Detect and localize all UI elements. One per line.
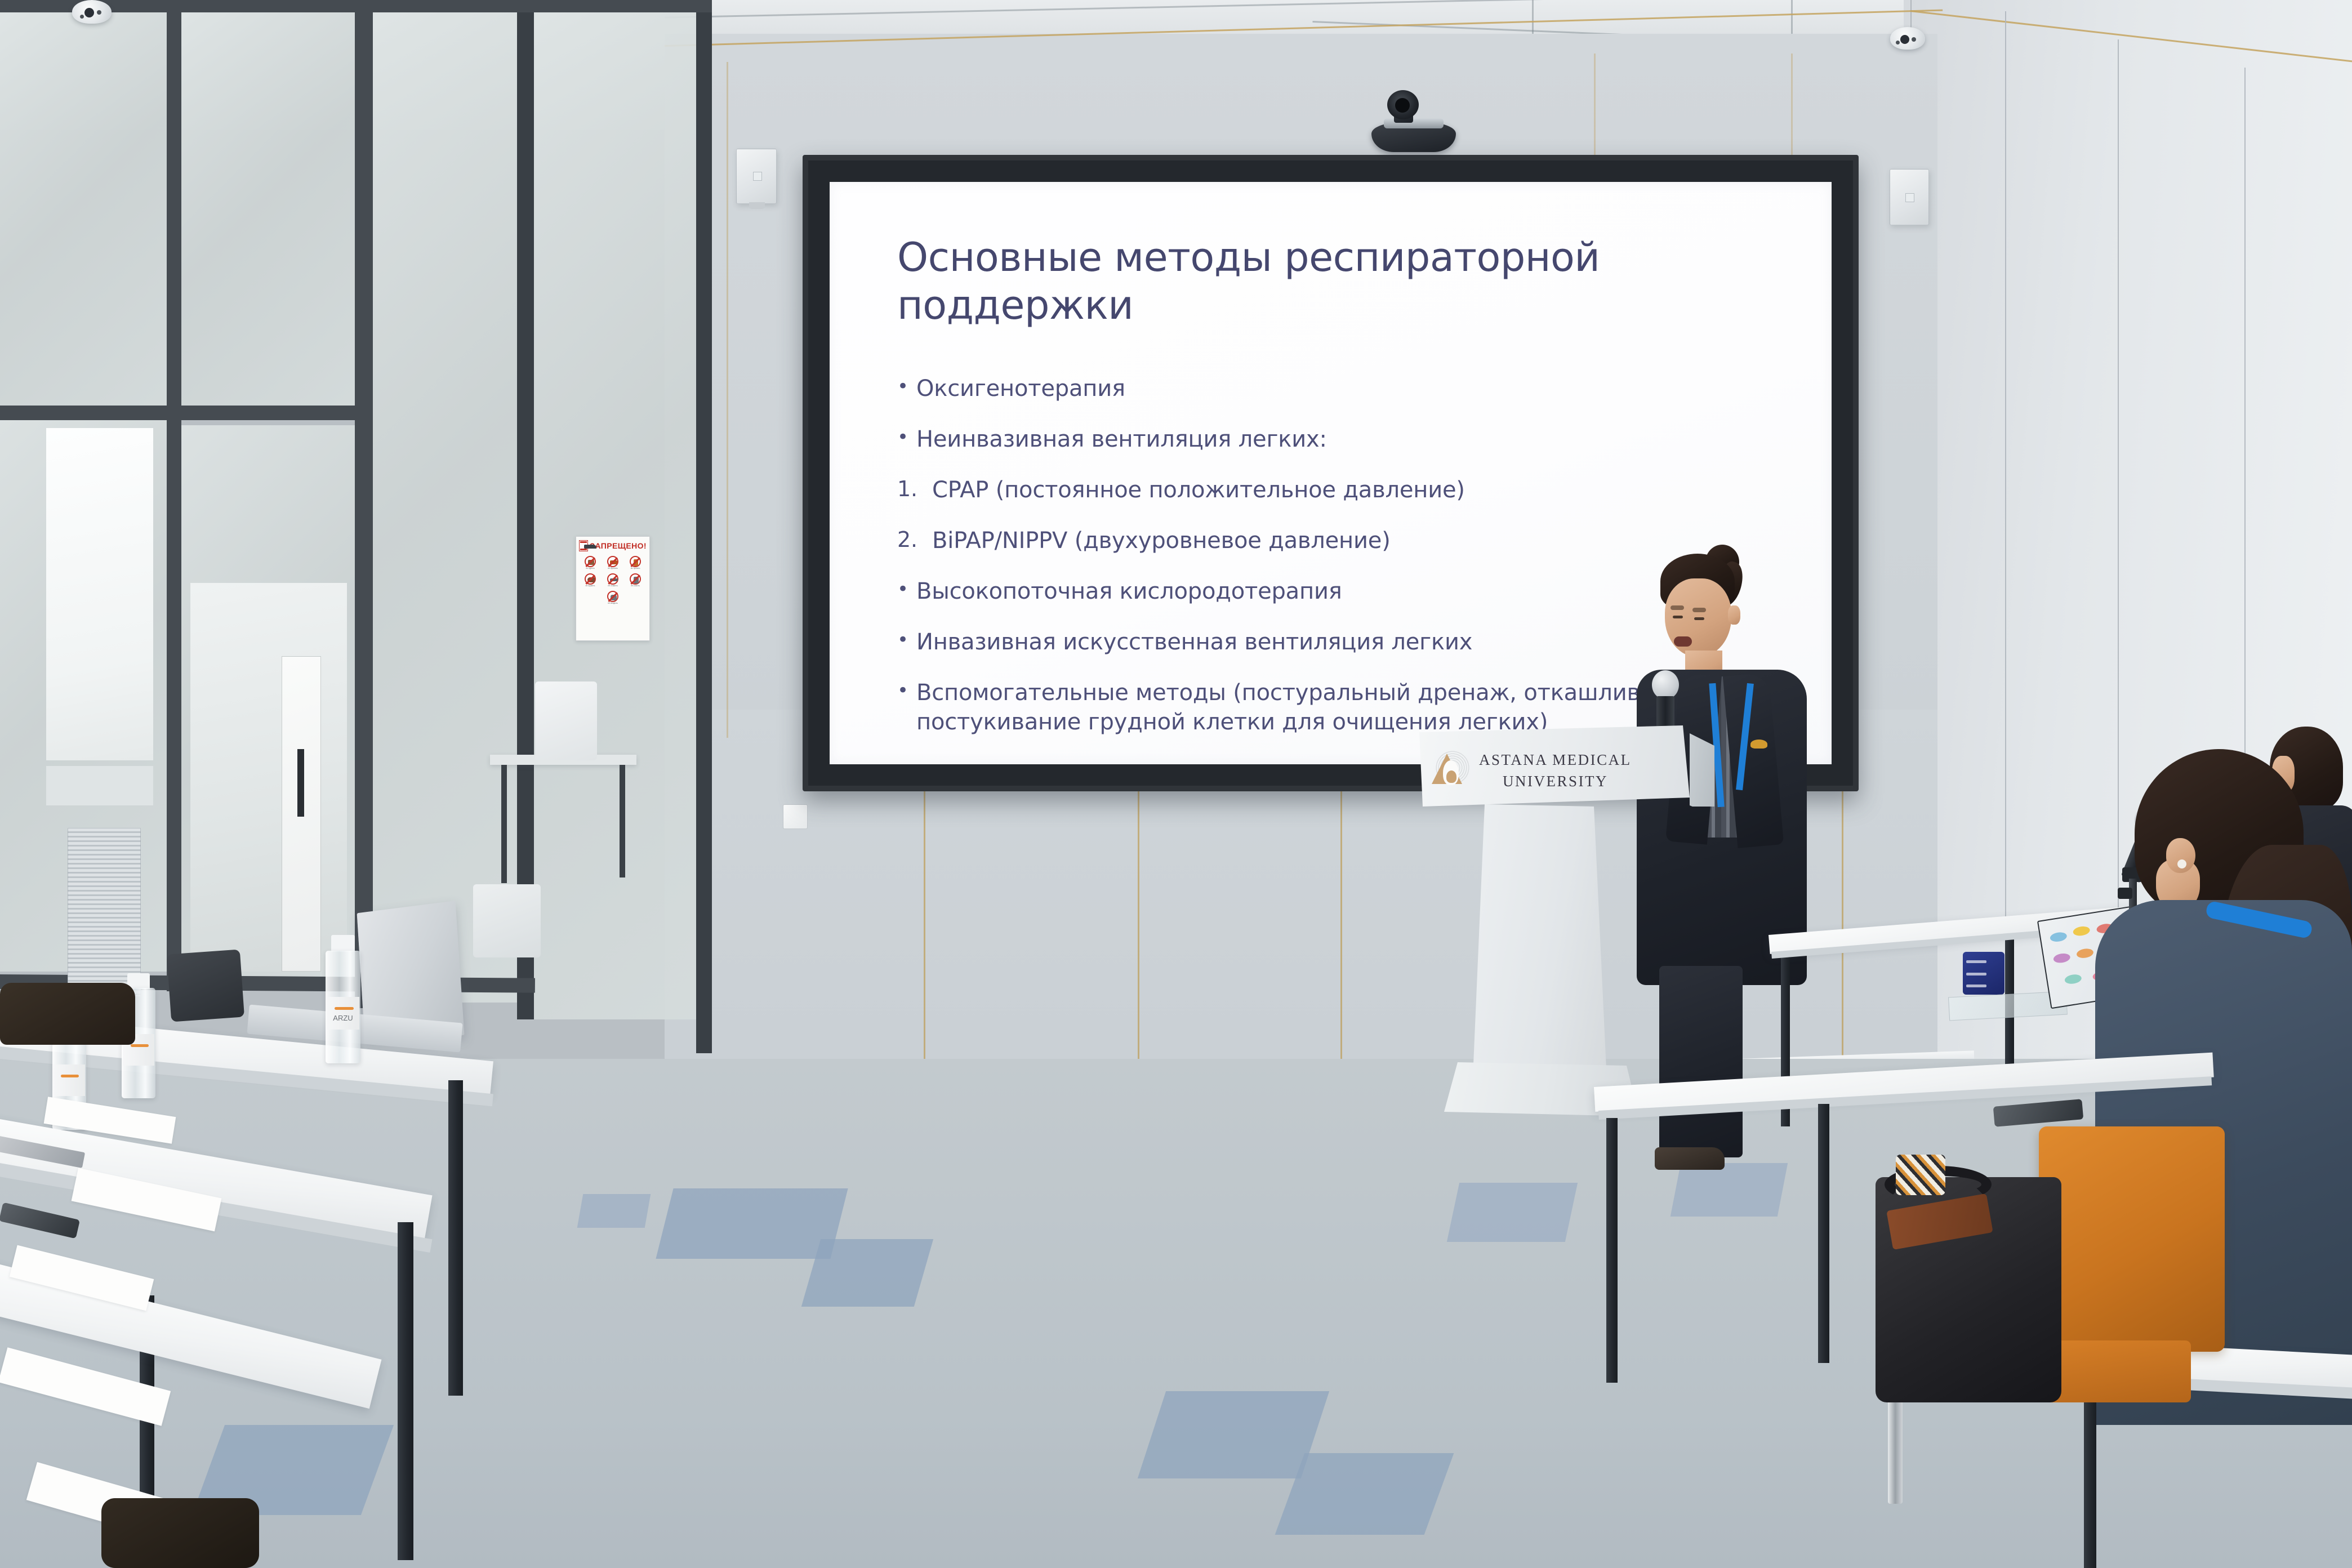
astana-medical-university-logo-icon (1429, 746, 1471, 789)
water-bottle[interactable]: ARZU (322, 935, 364, 1064)
poster-caption: не шуметь (582, 585, 599, 587)
lapel-pin (1750, 740, 1767, 749)
slide-bullet-text: CPAP (постоянное положительное давление) (932, 475, 1771, 505)
glass-pane (532, 6, 698, 1019)
slide-bullet-item: •Оксигенотерапия (897, 374, 1771, 403)
podium-column (1473, 804, 1606, 1069)
bullet-marker: • (897, 678, 916, 703)
foreground-bag (0, 983, 135, 1045)
far-table-leg (620, 765, 625, 877)
poster-caption: не ставить (604, 585, 621, 587)
door-handle[interactable] (297, 749, 304, 817)
podium-branding: ASTANA MEDICAL UNIVERSITY (1420, 732, 1683, 803)
table-leg (398, 1222, 413, 1560)
podium-side (1690, 733, 1714, 807)
bullet-marker: • (897, 425, 916, 449)
audience-chair[interactable] (2039, 1126, 2225, 1352)
poster-caption: не входить (604, 603, 621, 605)
bottle-brand-label: ARZU (330, 1014, 356, 1023)
bullet-marker: • (897, 577, 916, 602)
eye (1673, 616, 1683, 618)
slide-bullet-text: Оксигенотерапия (916, 374, 1771, 403)
earring (2177, 859, 2186, 868)
lecture-room-photo: ЗАПРЕЩЕНО! не курить не бросать не трога… (0, 0, 2352, 1568)
window-sill (46, 766, 153, 805)
ear (1728, 605, 1740, 625)
podium-line2: UNIVERSITY (1503, 773, 1608, 790)
poster-title: ЗАПРЕЩЕНО! (590, 541, 647, 550)
chair-silhouette (167, 950, 244, 1022)
poster-caption: не трогать (627, 568, 644, 570)
prohibition-poster: ЗАПРЕЩЕНО! не курить не бросать не трога… (576, 536, 650, 641)
dome-camera-icon (72, 0, 112, 24)
dome-camera-icon (1890, 27, 1925, 50)
air-vent (68, 828, 141, 997)
glass-pane (372, 11, 518, 1003)
slide-title: Основные методы респираторной поддержки (897, 234, 1624, 330)
carpet-accent-tile (1275, 1453, 1454, 1535)
table-leg (1606, 1118, 1618, 1383)
podium: ASTANA MEDICAL UNIVERSITY (1419, 725, 1718, 1193)
scarf (1896, 1155, 1945, 1195)
eyebrow (1692, 608, 1706, 612)
poster-caption: не класть (627, 585, 644, 587)
mullion (355, 0, 373, 1008)
carpet-accent-tile (801, 1239, 933, 1307)
wall-panel-seam (727, 62, 728, 738)
mullion (167, 0, 181, 991)
handbag[interactable] (1876, 1177, 2061, 1402)
wall-speaker-left-icon (736, 149, 777, 204)
table-leg (2084, 1383, 2096, 1568)
carpet-accent-tile (577, 1194, 651, 1228)
glass-pane (180, 6, 355, 411)
interior-room-view (190, 583, 347, 972)
glass-pane (0, 11, 169, 406)
slide-bullet-item: •Неинвазивная вентиляция легких: (897, 425, 1771, 454)
mullion (517, 0, 534, 1019)
slide-bullet-text: Неинвазивная вентиляция легких: (916, 425, 1771, 454)
light-switch[interactable] (783, 804, 808, 829)
eyebrow (1671, 605, 1684, 610)
ptz-conference-camera-icon (1355, 89, 1470, 154)
far-table-leg (501, 765, 507, 883)
poster-caption: не бросать (604, 568, 621, 570)
number-marker: 1. (897, 475, 932, 503)
number-marker: 2. (897, 526, 932, 554)
far-chair (473, 884, 541, 957)
far-chair (535, 681, 597, 760)
foreground-bag (101, 1498, 259, 1568)
mullion (0, 406, 360, 420)
mullion (696, 0, 712, 1053)
table-leg (1818, 1104, 1829, 1363)
bullet-marker: • (897, 627, 916, 652)
slide-bullet-item: 1.CPAP (постоянное положительное давлени… (897, 475, 1771, 505)
interior-window (46, 428, 153, 760)
bag-strap (1886, 1193, 1993, 1250)
eye (1694, 617, 1704, 620)
mouth (1674, 636, 1692, 647)
poster-caption: не курить (582, 568, 599, 570)
bullet-marker: • (897, 374, 916, 399)
podium-line1: ASTANA MEDICAL (1479, 751, 1632, 769)
table-leg (448, 1080, 463, 1396)
blue-cup[interactable] (1963, 952, 2004, 995)
wall-speaker-right-icon (1890, 169, 1929, 225)
